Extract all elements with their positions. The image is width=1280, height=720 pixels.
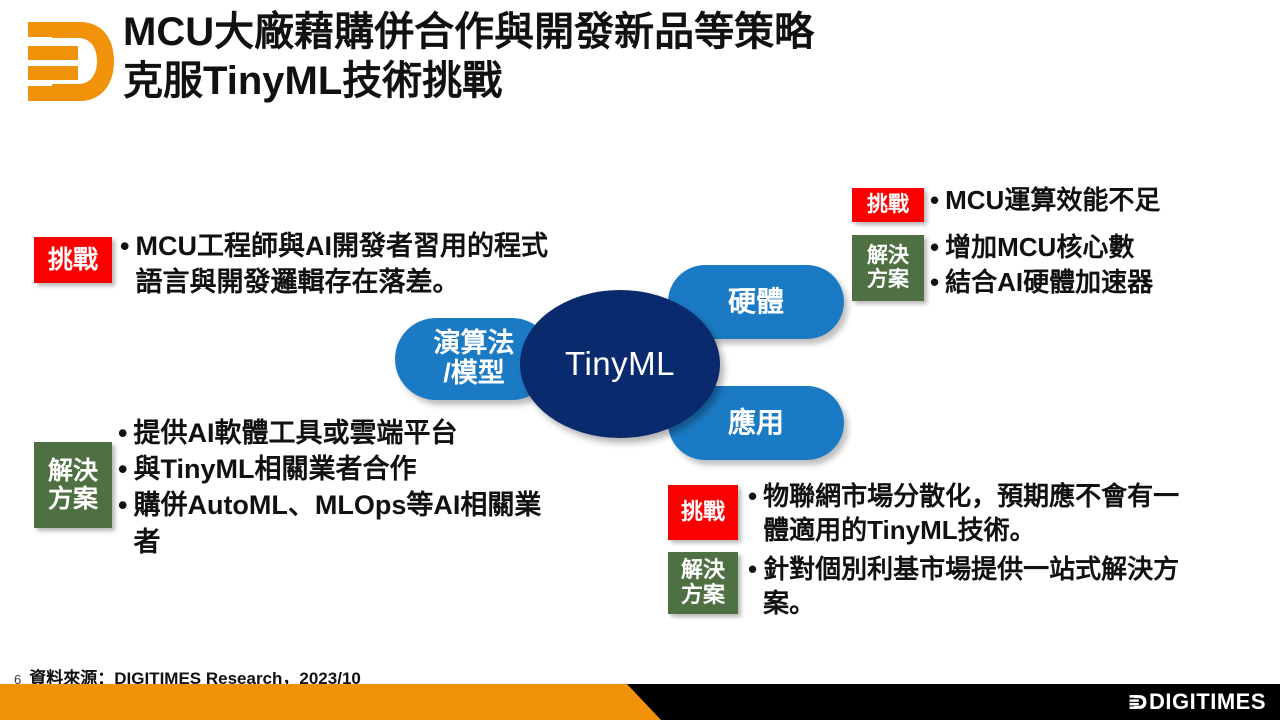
bullets-top-right-challenge: • MCU運算效能不足 xyxy=(930,183,1260,217)
bullets-left-challenge: • MCU工程師與AI開發者習用的程式語言與開發邏輯存在落差。 xyxy=(120,228,550,300)
bullet-dot: • xyxy=(748,552,757,586)
bullets-bottom-right-solution: • 針對個別利基市場提供一站式解決方案。 xyxy=(748,552,1198,621)
bullet-dot: • xyxy=(930,183,939,217)
pill-label: 應用 xyxy=(728,408,784,439)
pill-label-line1: 演算法 xyxy=(434,329,515,359)
footer-bar xyxy=(0,684,1280,720)
badge-solution-top-right: 解決 方案 xyxy=(852,235,924,301)
bullet-text: 與TinyML相關業者合作 xyxy=(133,451,566,487)
title-line-1: MCU大廠藉購併合作與開發新品等策略 xyxy=(123,8,1233,57)
bullet-text: 針對個別利基市場提供一站式解決方案。 xyxy=(763,552,1198,621)
bullet-text: 增加MCU核心數 xyxy=(945,230,1270,265)
badge-challenge-left: 挑戰 xyxy=(34,237,112,283)
list-item: • 結合AI硬體加速器 xyxy=(930,265,1270,300)
list-item: • 針對個別利基市場提供一站式解決方案。 xyxy=(748,552,1198,621)
bullet-dot: • xyxy=(930,265,939,300)
list-item: • MCU運算效能不足 xyxy=(930,183,1260,217)
bullet-text: 購併AutoML、MLOps等AI相關業者 xyxy=(133,487,566,559)
footer-brand-name: DIGITIMES xyxy=(1149,689,1266,715)
bullet-text: 提供AI軟體工具或雲端平台 xyxy=(133,415,566,451)
badge-label-line1: 解決 xyxy=(681,558,725,583)
bullet-dot: • xyxy=(118,487,127,523)
badge-label-line2: 方案 xyxy=(681,583,725,608)
list-item: • 增加MCU核心數 xyxy=(930,230,1270,265)
page-title: MCU大廠藉購併合作與開發新品等策略 克服TinyML技術挑戰 xyxy=(123,8,1233,106)
list-item: • 購併AutoML、MLOps等AI相關業者 xyxy=(118,487,566,559)
badge-label-line1: 解決 xyxy=(867,244,909,268)
bullet-text: 物聯網市場分散化，預期應不會有一體適用的TinyML技術。 xyxy=(763,479,1198,548)
bullet-dot: • xyxy=(120,228,129,264)
bullet-text: MCU運算效能不足 xyxy=(945,183,1260,217)
badge-label: 挑戰 xyxy=(48,246,98,274)
list-item: • 與TinyML相關業者合作 xyxy=(118,451,566,487)
list-item: • 提供AI軟體工具或雲端平台 xyxy=(118,415,566,451)
title-line-2: 克服TinyML技術挑戰 xyxy=(123,57,1233,106)
badge-solution-left: 解決 方案 xyxy=(34,442,112,528)
bullets-left-solution: • 提供AI軟體工具或雲端平台 • 與TinyML相關業者合作 • 購併Auto… xyxy=(118,415,566,560)
badge-label-line1: 解決 xyxy=(48,457,98,485)
bullets-top-right-solution: • 增加MCU核心數 • 結合AI硬體加速器 xyxy=(930,230,1270,300)
bullet-dot: • xyxy=(118,415,127,451)
badge-label: 挑戰 xyxy=(681,500,725,525)
badge-label-line2: 方案 xyxy=(48,485,98,513)
bullet-text: MCU工程師與AI開發者習用的程式語言與開發邏輯存在落差。 xyxy=(135,228,550,300)
list-item: • 物聯網市場分散化，預期應不會有一體適用的TinyML技術。 xyxy=(748,479,1198,548)
bullet-text: 結合AI硬體加速器 xyxy=(945,265,1270,300)
slide: MCU大廠藉購併合作與開發新品等策略 克服TinyML技術挑戰 挑戰 • MCU… xyxy=(0,0,1280,720)
bullets-bottom-right-challenge: • 物聯網市場分散化，預期應不會有一體適用的TinyML技術。 xyxy=(748,479,1198,548)
pill-label: 硬體 xyxy=(728,287,784,318)
badge-label: 挑戰 xyxy=(867,193,909,217)
core-label: TinyML xyxy=(565,345,675,383)
list-item: • MCU工程師與AI開發者習用的程式語言與開發邏輯存在落差。 xyxy=(120,228,550,300)
footer-brand-logo: DIGITIMES xyxy=(1128,691,1266,713)
badge-solution-bottom-right: 解決 方案 xyxy=(668,552,738,614)
badge-label-line2: 方案 xyxy=(867,268,909,292)
bullet-dot: • xyxy=(748,479,757,513)
bullet-dot: • xyxy=(118,451,127,487)
bullet-dot: • xyxy=(930,230,939,265)
badge-challenge-top-right: 挑戰 xyxy=(852,188,924,222)
badge-challenge-bottom-right: 挑戰 xyxy=(668,485,738,540)
digitimes-d-logo-icon xyxy=(22,16,118,108)
core-tinyml-node: TinyML xyxy=(520,290,720,438)
pill-label-line2: /模型 xyxy=(443,359,505,389)
